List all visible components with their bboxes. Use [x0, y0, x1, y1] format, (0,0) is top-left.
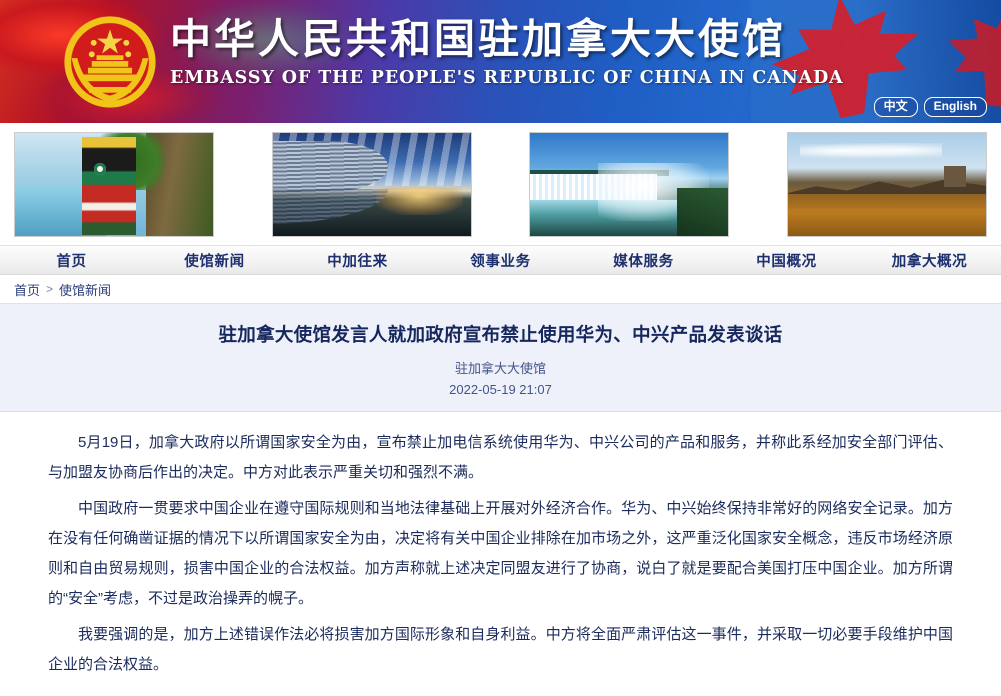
site-title-cn: 中华人民共和国驻加拿大大使馆 — [170, 16, 770, 63]
breadcrumb-separator-icon: > — [46, 282, 53, 296]
language-switcher: 中文 English — [874, 97, 987, 117]
header-title-block: 中华人民共和国驻加拿大大使馆 EMBASSY OF THE PEOPLE'S R… — [170, 16, 770, 88]
article-paragraph: 中国政府一贯要求中国企业在遵守国际规则和当地法律基础上开展对外经济合作。华为、中… — [48, 494, 953, 614]
photo-great-wall[interactable] — [787, 132, 987, 237]
photo-beijing-ncpa[interactable] — [272, 132, 472, 237]
nav-media-services[interactable]: 媒体服务 — [572, 250, 715, 271]
wall-autumn-foliage — [788, 194, 986, 235]
falls-rock — [677, 188, 728, 235]
article-date: 2022-05-19 21:07 — [0, 382, 1001, 397]
breadcrumb-current[interactable]: 使馆新闻 — [59, 280, 111, 299]
nav-china-canada-exchange[interactable]: 中加往来 — [286, 250, 429, 271]
nav-about-canada[interactable]: 加拿大概况 — [858, 250, 1001, 271]
ncpa-sunset-glow — [376, 188, 463, 215]
site-header: 中华人民共和国驻加拿大大使馆 EMBASSY OF THE PEOPLE'S R… — [0, 0, 1001, 123]
breadcrumb-home[interactable]: 首页 — [14, 280, 40, 299]
photo-niagara-falls[interactable] — [529, 132, 729, 237]
wall-clouds — [800, 143, 943, 159]
lang-english-button[interactable]: English — [924, 97, 987, 117]
article-body: 5月19日，加拿大政府以所谓国家安全为由，宣布禁止加电信系统使用华为、中兴公司的… — [0, 412, 1001, 696]
article-paragraph: 5月19日，加拿大政府以所谓国家安全为由，宣布禁止加电信系统使用华为、中兴公司的… — [48, 428, 953, 488]
wall-watchtower — [944, 166, 966, 187]
site-title-en: EMBASSY OF THE PEOPLE'S REPUBLIC OF CHIN… — [170, 68, 770, 88]
main-navigation: 首页 使馆新闻 中加往来 领事业务 媒体服务 中国概况 加拿大概况 — [0, 245, 1001, 275]
photo-totem-pole[interactable] — [14, 132, 214, 237]
china-national-emblem-icon — [62, 14, 158, 110]
photo-banner-strip — [0, 123, 1001, 245]
article-title: 驻加拿大使馆发言人就加政府宣布禁止使用华为、中兴产品发表谈话 — [0, 322, 1001, 348]
breadcrumb: 首页 > 使馆新闻 — [0, 275, 1001, 304]
page-root: 中华人民共和国驻加拿大大使馆 EMBASSY OF THE PEOPLE'S R… — [0, 0, 1001, 656]
article-header: 驻加拿大使馆发言人就加政府宣布禁止使用华为、中兴产品发表谈话 驻加拿大大使馆 2… — [0, 304, 1001, 412]
nav-consular-services[interactable]: 领事业务 — [429, 250, 572, 271]
article-source: 驻加拿大大使馆 — [0, 358, 1001, 377]
nav-home[interactable]: 首页 — [0, 250, 143, 271]
lang-chinese-button[interactable]: 中文 — [874, 97, 918, 117]
ncpa-dome-reflection — [272, 189, 388, 224]
nav-embassy-news[interactable]: 使馆新闻 — [143, 250, 286, 271]
nav-about-china[interactable]: 中国概况 — [715, 250, 858, 271]
article-paragraph: 我要强调的是，加方上述错误作法必将损害加方国际形象和自身利益。中方将全面严肃评估… — [48, 620, 953, 680]
ncpa-dome — [272, 141, 388, 193]
totem-pole-carving — [82, 137, 135, 236]
